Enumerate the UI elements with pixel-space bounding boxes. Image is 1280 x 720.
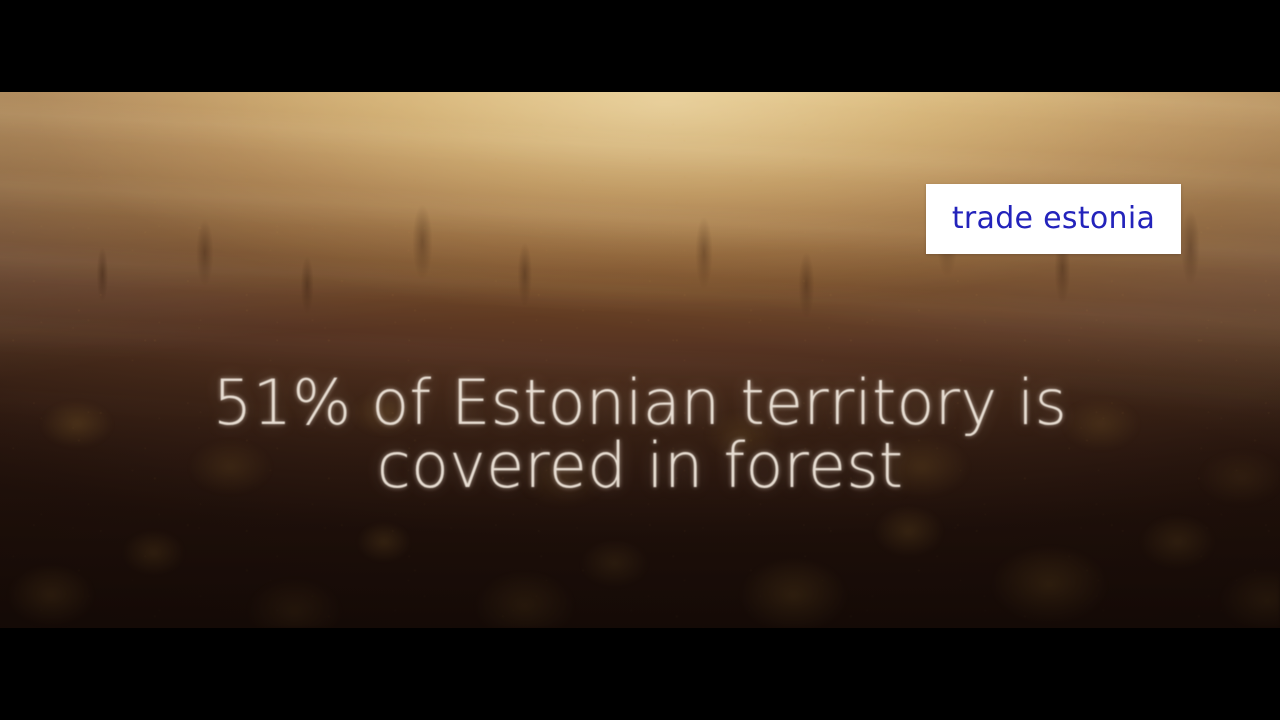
logo-wordmark: trade estonia [952, 204, 1155, 234]
trade-estonia-logo[interactable]: trade estonia [926, 184, 1181, 254]
headline-line-1: 51% of Estonian territory is [0, 371, 1280, 434]
headline-line-2: covered in forest [0, 434, 1280, 497]
letterbox-bottom-bar [0, 628, 1280, 720]
video-frame[interactable]: 51% of Estonian territory is covered in … [0, 92, 1280, 628]
vignette-layer [0, 92, 1280, 628]
letterbox-top-bar [0, 0, 1280, 92]
screenshot-stage: 51% of Estonian territory is covered in … [0, 0, 1280, 720]
headline-overlay: 51% of Estonian territory is covered in … [0, 371, 1280, 497]
